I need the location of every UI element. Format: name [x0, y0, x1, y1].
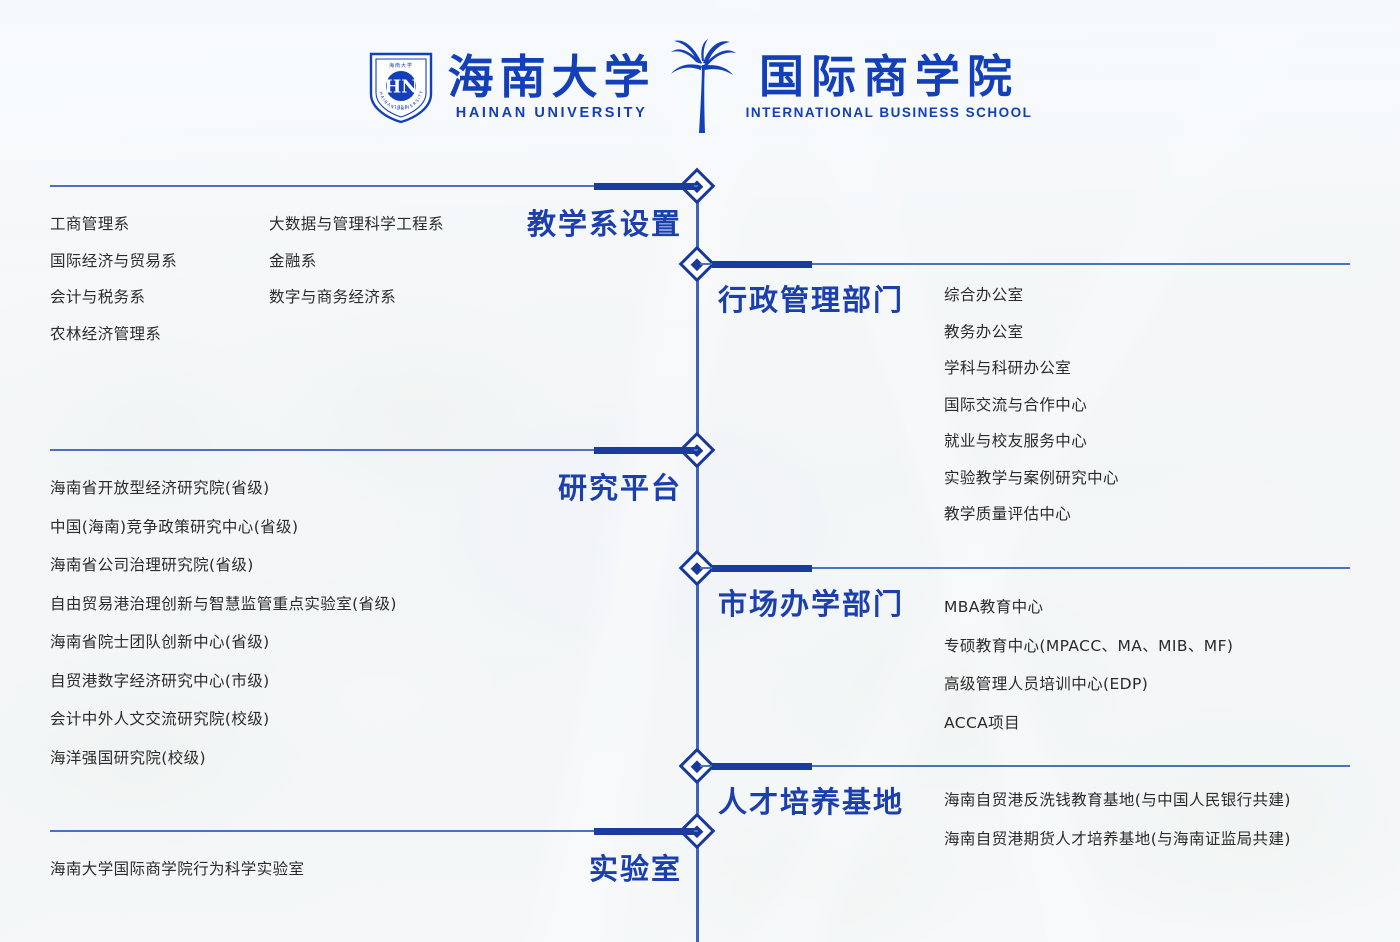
- list-item: 海南省开放型经济研究院(省级): [50, 481, 397, 497]
- bar-laboratory: [594, 828, 694, 835]
- list-item: 会计与税务系: [50, 290, 177, 306]
- list-item: 金融系: [269, 254, 444, 270]
- list-item: 海南自贸港反洗钱教育基地(与中国人民银行共建): [944, 793, 1291, 809]
- list-item: 数字与商务经济系: [269, 290, 444, 306]
- list-item: 海南省院士团队创新中心(省级): [50, 635, 397, 651]
- bar-research: [594, 447, 694, 454]
- list-item: 农林经济管理系: [50, 327, 177, 343]
- section-title-research: 研究平台: [400, 474, 682, 503]
- list-item: 学科与科研办公室: [944, 361, 1119, 377]
- section-title-market: 市场办学部门: [718, 590, 904, 619]
- svg-text:海南大学: 海南大学: [389, 62, 413, 69]
- list-item: 中国(海南)竞争政策研究中心(省级): [50, 520, 397, 536]
- list-item: 国际经济与贸易系: [50, 254, 177, 270]
- bar-talent: [712, 763, 812, 770]
- list-item: ACCA项目: [944, 716, 1233, 732]
- palm-tree-icon: [666, 39, 740, 135]
- list-item: 海南大学国际商学院行为科学实验室: [50, 862, 304, 878]
- brand-header: HN 海南大学 1958 HAINAN UNIVERSITY 海南大学 HAIN…: [0, 38, 1400, 136]
- teaching-column-1: 工商管理系 国际经济与贸易系 会计与税务系 农林经济管理系: [50, 217, 177, 363]
- market-list: MBA教育中心 专硕教育中心(MPACC、MA、MIB、MF) 高级管理人员培训…: [944, 600, 1233, 754]
- list-item: 自由贸易港治理创新与智慧监管重点实验室(省级): [50, 597, 397, 613]
- bar-administrative: [712, 261, 812, 268]
- section-title-laboratory: 实验室: [400, 855, 682, 884]
- list-item: 综合办公室: [944, 288, 1119, 304]
- laboratory-list: 海南大学国际商学院行为科学实验室: [50, 862, 304, 899]
- teaching-column-2: 大数据与管理科学工程系 金融系 数字与商务经济系: [269, 217, 444, 327]
- school-name-cn: 国际商学院: [759, 54, 1019, 99]
- administrative-list: 综合办公室 教务办公室 学科与科研办公室 国际交流与合作中心 就业与校友服务中心…: [944, 288, 1119, 544]
- list-item: 海洋强国研究院(校级): [50, 751, 397, 767]
- list-item: 国际交流与合作中心: [944, 398, 1119, 414]
- list-item: 就业与校友服务中心: [944, 434, 1119, 450]
- list-item: 专硕教育中心(MPACC、MA、MIB、MF): [944, 639, 1233, 655]
- section-title-talent: 人才培养基地: [718, 788, 904, 817]
- bar-market: [712, 565, 812, 572]
- list-item: 教学质量评估中心: [944, 507, 1119, 523]
- svg-text:HN: HN: [384, 77, 417, 98]
- list-item: 教务办公室: [944, 325, 1119, 341]
- talent-list: 海南自贸港反洗钱教育基地(与中国人民银行共建) 海南自贸港期货人才培养基地(与海…: [944, 793, 1291, 870]
- bar-teaching: [594, 183, 694, 190]
- hainan-university-crest-icon: HN 海南大学 1958 HAINAN UNIVERSITY: [368, 50, 434, 124]
- university-name-en: HAINAN UNIVERSITY: [456, 105, 648, 121]
- university-name-cn: 海南大学: [448, 54, 656, 100]
- list-item: 大数据与管理科学工程系: [269, 217, 444, 233]
- university-name-block: 海南大学 HAINAN UNIVERSITY: [448, 54, 656, 121]
- section-title-administrative: 行政管理部门: [718, 286, 904, 315]
- list-item: 工商管理系: [50, 217, 177, 233]
- list-item: 海南自贸港期货人才培养基地(与海南证监局共建): [944, 832, 1291, 848]
- school-name-en: INTERNATIONAL BUSINESS SCHOOL: [746, 105, 1033, 120]
- list-item: 海南省公司治理研究院(省级): [50, 558, 397, 574]
- poster-canvas: HN 海南大学 1958 HAINAN UNIVERSITY 海南大学 HAIN…: [0, 0, 1400, 942]
- research-list: 海南省开放型经济研究院(省级) 中国(海南)竞争政策研究中心(省级) 海南省公司…: [50, 481, 397, 789]
- list-item: 自贸港数字经济研究中心(市级): [50, 674, 397, 690]
- list-item: 实验教学与案例研究中心: [944, 471, 1119, 487]
- list-item: 会计中外人文交流研究院(校级): [50, 712, 397, 728]
- school-name-block: 国际商学院 INTERNATIONAL BUSINESS SCHOOL: [746, 54, 1033, 120]
- list-item: 高级管理人员培训中心(EDP): [944, 677, 1233, 693]
- list-item: MBA教育中心: [944, 600, 1233, 616]
